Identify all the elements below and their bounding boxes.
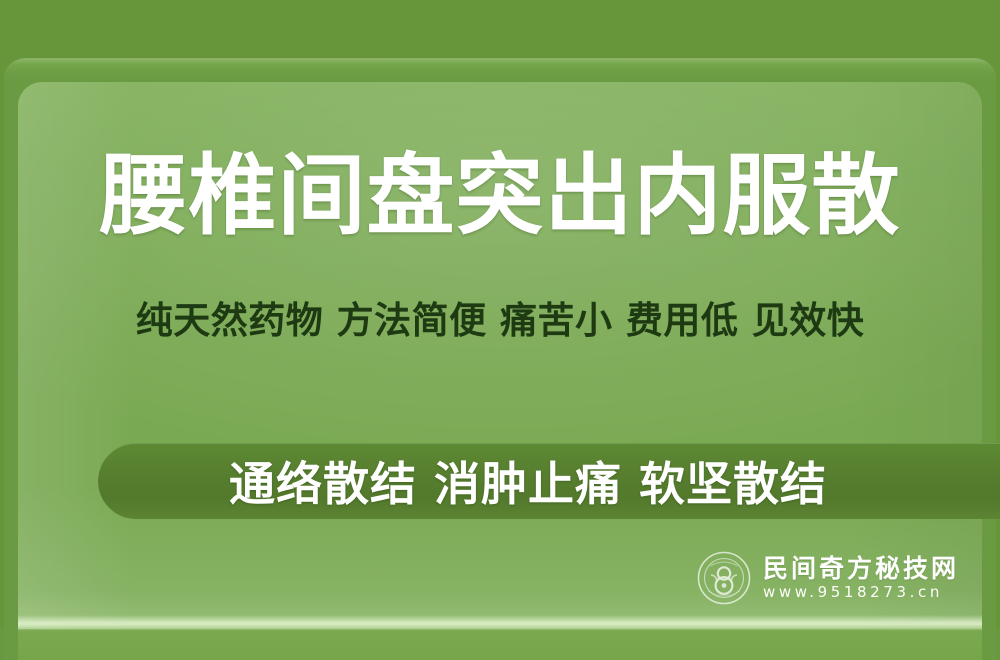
circular-gourd-seal-icon <box>697 551 751 605</box>
watermark-url: www.9518273.cn <box>763 585 959 601</box>
watermark-site-name: 民间奇方秘技网 <box>763 556 959 582</box>
floor-base-strip <box>18 629 982 660</box>
subtitle-benefits: 纯天然药物 方法简便 痛苦小 费用低 见效快 <box>0 302 1000 339</box>
effects-pill-label: 通络散结 消肿止痛 软坚散结 <box>98 443 958 519</box>
promo-banner: 腰椎间盘突出内服散 纯天然药物 方法简便 痛苦小 费用低 见效快 通络散结 消肿… <box>0 0 1000 660</box>
page-title: 腰椎间盘突出内服散 <box>0 152 1000 240</box>
watermark-texts: 民间奇方秘技网 www.9518273.cn <box>763 556 959 601</box>
watermark: 民间奇方秘技网 www.9518273.cn <box>697 551 959 605</box>
